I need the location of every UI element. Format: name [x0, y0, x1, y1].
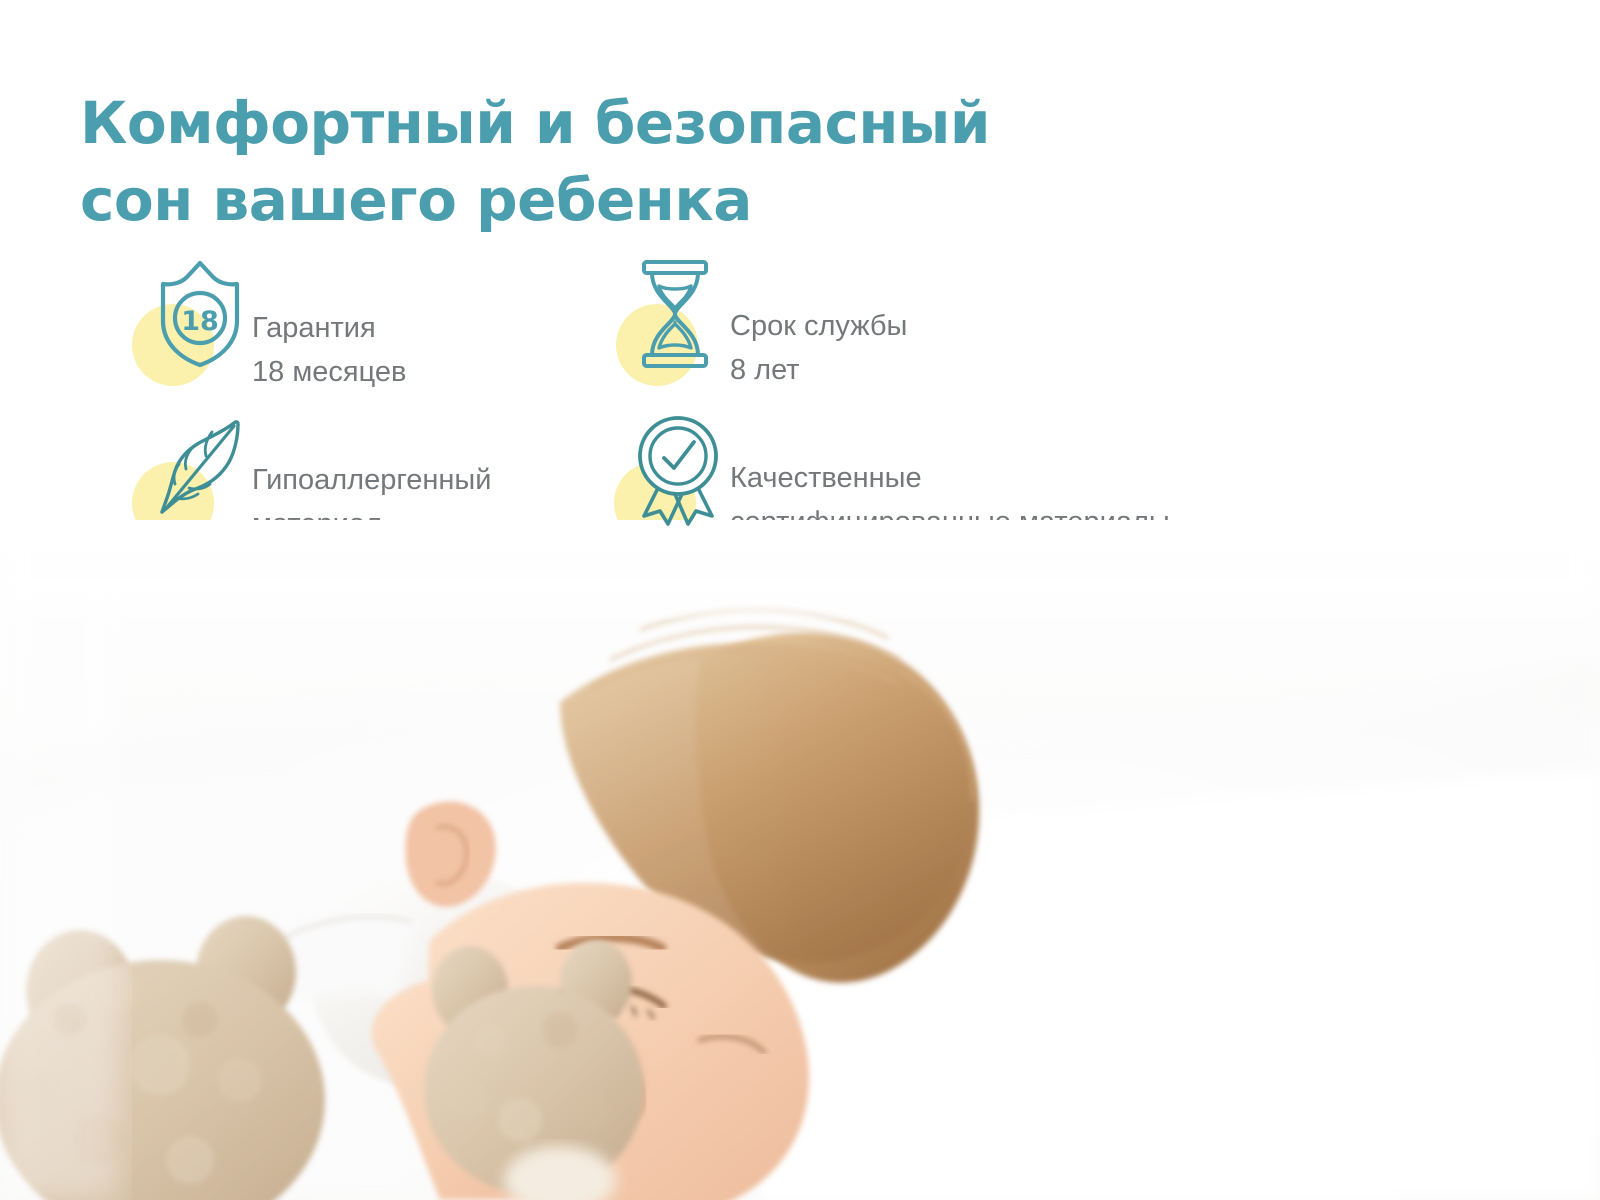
certificate-medal-icon	[634, 412, 724, 531]
page-title: Комфортный и безопасный сон вашего ребен…	[80, 85, 990, 239]
feature-icon-wrap	[132, 410, 248, 534]
shield-18-icon: 18	[158, 258, 242, 375]
warranty-months-number: 18	[181, 306, 219, 337]
hero-photo-sleeping-child	[0, 520, 1600, 1200]
feature-icon-wrap: 18	[132, 258, 248, 382]
feature-icon-wrap	[610, 410, 726, 534]
feature-label: Срок службы 8 лет	[730, 258, 907, 392]
promo-banner: Комфортный и безопасный сон вашего ребен…	[0, 0, 1600, 1200]
feature-list: 18 Гарантия 18 месяцев	[132, 258, 1332, 562]
feature-item-warranty: 18 Гарантия 18 месяцев	[132, 258, 610, 410]
feature-icon-wrap	[610, 258, 726, 382]
feather-icon	[154, 416, 248, 525]
feature-label: Гарантия 18 месяцев	[252, 258, 406, 394]
hourglass-icon	[636, 258, 714, 375]
photo-illustration	[0, 520, 1600, 1200]
feature-item-lifespan: Срок службы 8 лет	[610, 258, 1250, 410]
